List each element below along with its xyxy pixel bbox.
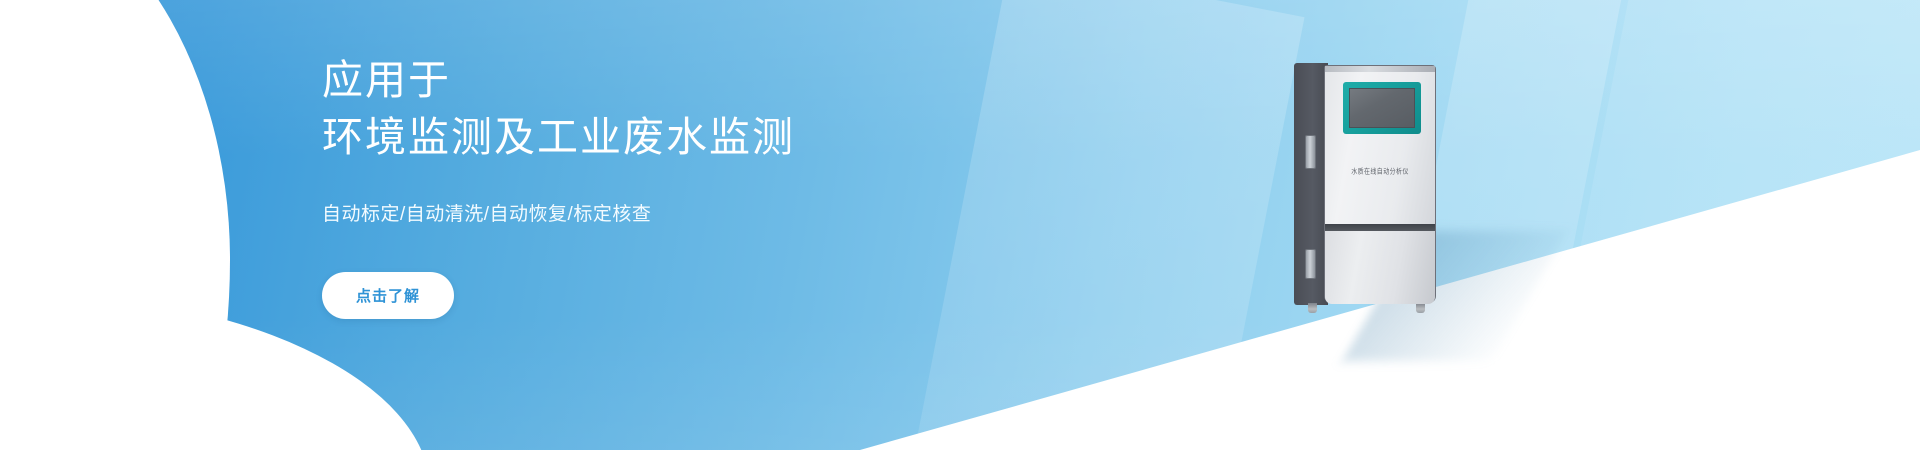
- device-lower-handle: [1305, 249, 1316, 279]
- device-caster-right: [1416, 303, 1425, 313]
- device-upper-handle: [1305, 135, 1316, 169]
- device-screen-bezel: [1343, 82, 1421, 134]
- headline-line-1: 应用于: [322, 52, 1022, 109]
- device-front-panel: 水质在线自动分析仪: [1324, 65, 1436, 303]
- hero-banner: 应用于 环境监测及工业废水监测 自动标定/自动清洗/自动恢复/标定核查 点击了解…: [0, 0, 1920, 450]
- device-caster-left: [1308, 303, 1317, 313]
- device-front-label: 水质在线自动分析仪: [1325, 165, 1435, 175]
- hero-subtitle: 自动标定/自动清洗/自动恢复/标定核查: [322, 202, 1022, 228]
- hero-copy-block: 应用于 环境监测及工业废水监测 自动标定/自动清洗/自动恢复/标定核查 点击了解: [322, 52, 1022, 319]
- cta-button[interactable]: 点击了解: [322, 272, 454, 319]
- water-quality-analyzer-image: 水质在线自动分析仪: [1294, 63, 1446, 311]
- device-divider: [1325, 224, 1435, 231]
- device-lower-cabinet: [1325, 231, 1435, 304]
- device-top-strip: [1325, 66, 1435, 72]
- device-display-screen: [1349, 88, 1415, 128]
- headline-line-2: 环境监测及工业废水监测: [322, 109, 1022, 166]
- device-side-panel: [1294, 63, 1328, 305]
